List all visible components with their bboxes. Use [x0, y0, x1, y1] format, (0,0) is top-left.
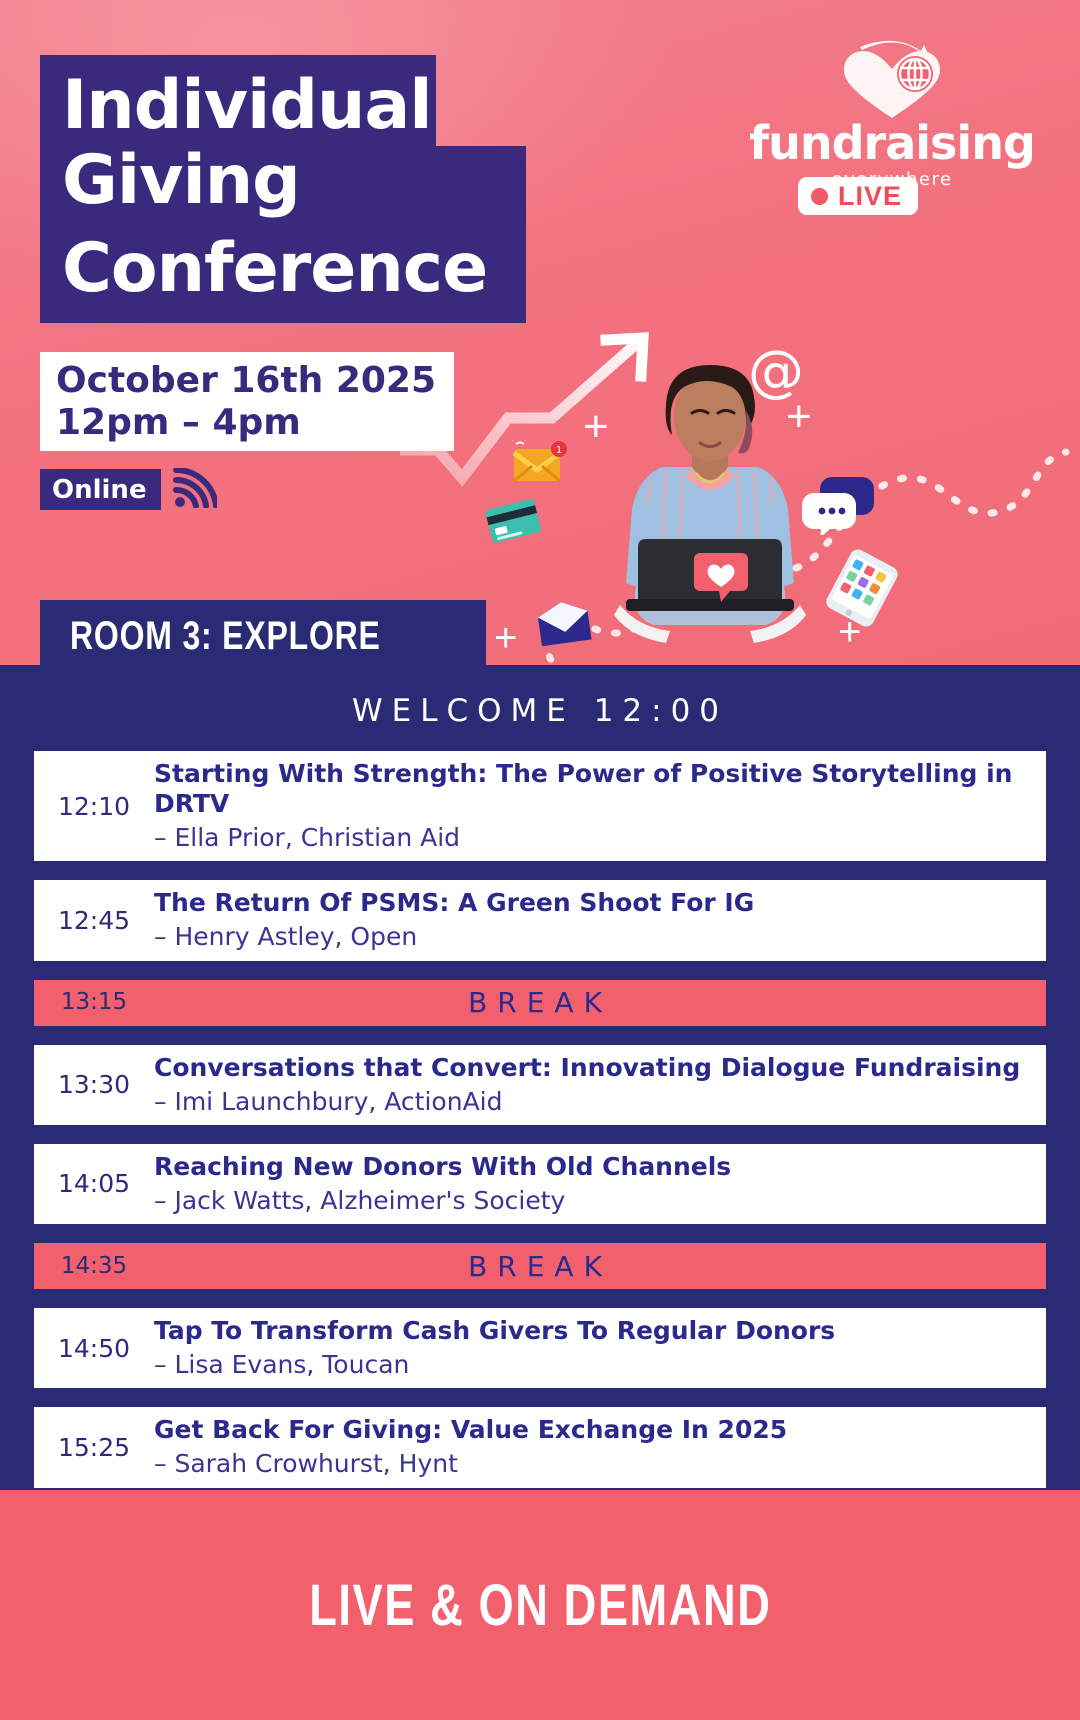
session-body: Get Back For Giving: Value Exchange In 2… — [154, 1415, 1046, 1479]
hero-section: + + + + @ 1 — [0, 0, 1080, 665]
session-title: The Return Of PSMS: A Green Shoot For IG — [154, 888, 1028, 918]
session-speaker: – Henry Astley, Open — [154, 921, 1028, 952]
live-label: LIVE — [838, 183, 902, 210]
session-time: 13:15 — [34, 991, 154, 1014]
welcome-heading: WELCOME 12:00 — [0, 665, 1080, 729]
session-body: Conversations that Convert: Innovating D… — [154, 1053, 1046, 1117]
session-time: 13:30 — [34, 1072, 154, 1097]
schedule-rows: 12:10Starting With Strength: The Power o… — [0, 751, 1080, 1553]
room-banner-label: ROOM 3: EXPLORE — [70, 614, 381, 659]
format-row: Online — [40, 468, 217, 510]
session-body: Reaching New Donors With Old Channels– J… — [154, 1152, 1046, 1216]
schedule-break-row: 14:35BREAK — [34, 1243, 1046, 1289]
session-title: Conversations that Convert: Innovating D… — [154, 1053, 1028, 1083]
session-title: Reaching New Donors With Old Channels — [154, 1152, 1028, 1182]
event-datetime: October 16th 2025 12pm – 4pm — [40, 352, 454, 451]
svg-text:1: 1 — [556, 445, 562, 456]
heart-globe-logo-icon — [832, 38, 952, 122]
online-badge: Online — [40, 469, 161, 511]
schedule-break-row: 13:15BREAK — [34, 980, 1046, 1026]
session-speaker: – Sarah Crowhurst, Hynt — [154, 1448, 1028, 1479]
plus-spark-icon: + — [494, 618, 517, 658]
session-speaker: – Lisa Evans, Toucan — [154, 1349, 1028, 1380]
break-label: BREAK — [154, 1250, 1046, 1283]
schedule-session-row: 12:10Starting With Strength: The Power o… — [34, 751, 1046, 861]
session-speaker: – Jack Watts, Alzheimer's Society — [154, 1185, 1028, 1216]
session-time: 15:25 — [34, 1435, 154, 1460]
title-line-3: Conference — [40, 234, 526, 323]
schedule-session-row: 15:25Get Back For Giving: Value Exchange… — [34, 1407, 1046, 1487]
session-body: Starting With Strength: The Power of Pos… — [154, 759, 1046, 853]
live-badge: LIVE — [798, 177, 918, 215]
event-time: 12pm – 4pm — [56, 402, 436, 444]
session-time: 12:45 — [34, 908, 154, 933]
session-title: Starting With Strength: The Power of Pos… — [154, 759, 1028, 819]
schedule-session-row: 12:45The Return Of PSMS: A Green Shoot F… — [34, 880, 1046, 960]
title-line-2: Giving — [40, 146, 526, 235]
event-date: October 16th 2025 — [56, 360, 436, 402]
session-time: 12:10 — [34, 794, 154, 819]
footer-label: LIVE & ON DEMAND — [309, 1572, 771, 1639]
session-speaker: – Ella Prior, Christian Aid — [154, 822, 1028, 853]
page-title: Individual Giving Conference — [40, 55, 526, 323]
break-label: BREAK — [154, 986, 1046, 1019]
credit-card-icon — [481, 492, 544, 548]
session-body: The Return Of PSMS: A Green Shoot For IG… — [154, 888, 1046, 952]
schedule-session-row: 14:50Tap To Transform Cash Givers To Reg… — [34, 1308, 1046, 1388]
room-banner: ROOM 3: EXPLORE — [40, 600, 486, 665]
session-speaker: – Imi Launchbury, ActionAid — [154, 1086, 1028, 1117]
session-title: Tap To Transform Cash Givers To Regular … — [154, 1316, 1028, 1346]
envelope-notification-icon: 1 — [512, 440, 568, 486]
session-title: Get Back For Giving: Value Exchange In 2… — [154, 1415, 1028, 1445]
schedule-section: WELCOME 12:00 12:10Starting With Strengt… — [0, 665, 1080, 1490]
session-time: 14:05 — [34, 1171, 154, 1196]
session-time: 14:35 — [34, 1255, 154, 1278]
title-line-1: Individual — [40, 55, 436, 146]
schedule-session-row: 13:30Conversations that Convert: Innovat… — [34, 1045, 1046, 1125]
person-with-laptop — [600, 355, 820, 645]
schedule-session-row: 14:05Reaching New Donors With Old Channe… — [34, 1144, 1046, 1224]
brand-logo: fundraising everywhere — [742, 38, 1042, 190]
footer-banner: LIVE & ON DEMAND — [0, 1490, 1080, 1720]
blue-mail-icon — [533, 596, 595, 649]
wifi-icon — [173, 468, 217, 508]
session-time: 14:50 — [34, 1336, 154, 1361]
session-body: Tap To Transform Cash Givers To Regular … — [154, 1316, 1046, 1380]
live-dot-icon — [811, 188, 828, 205]
logo-wordmark: fundraising — [742, 120, 1042, 166]
